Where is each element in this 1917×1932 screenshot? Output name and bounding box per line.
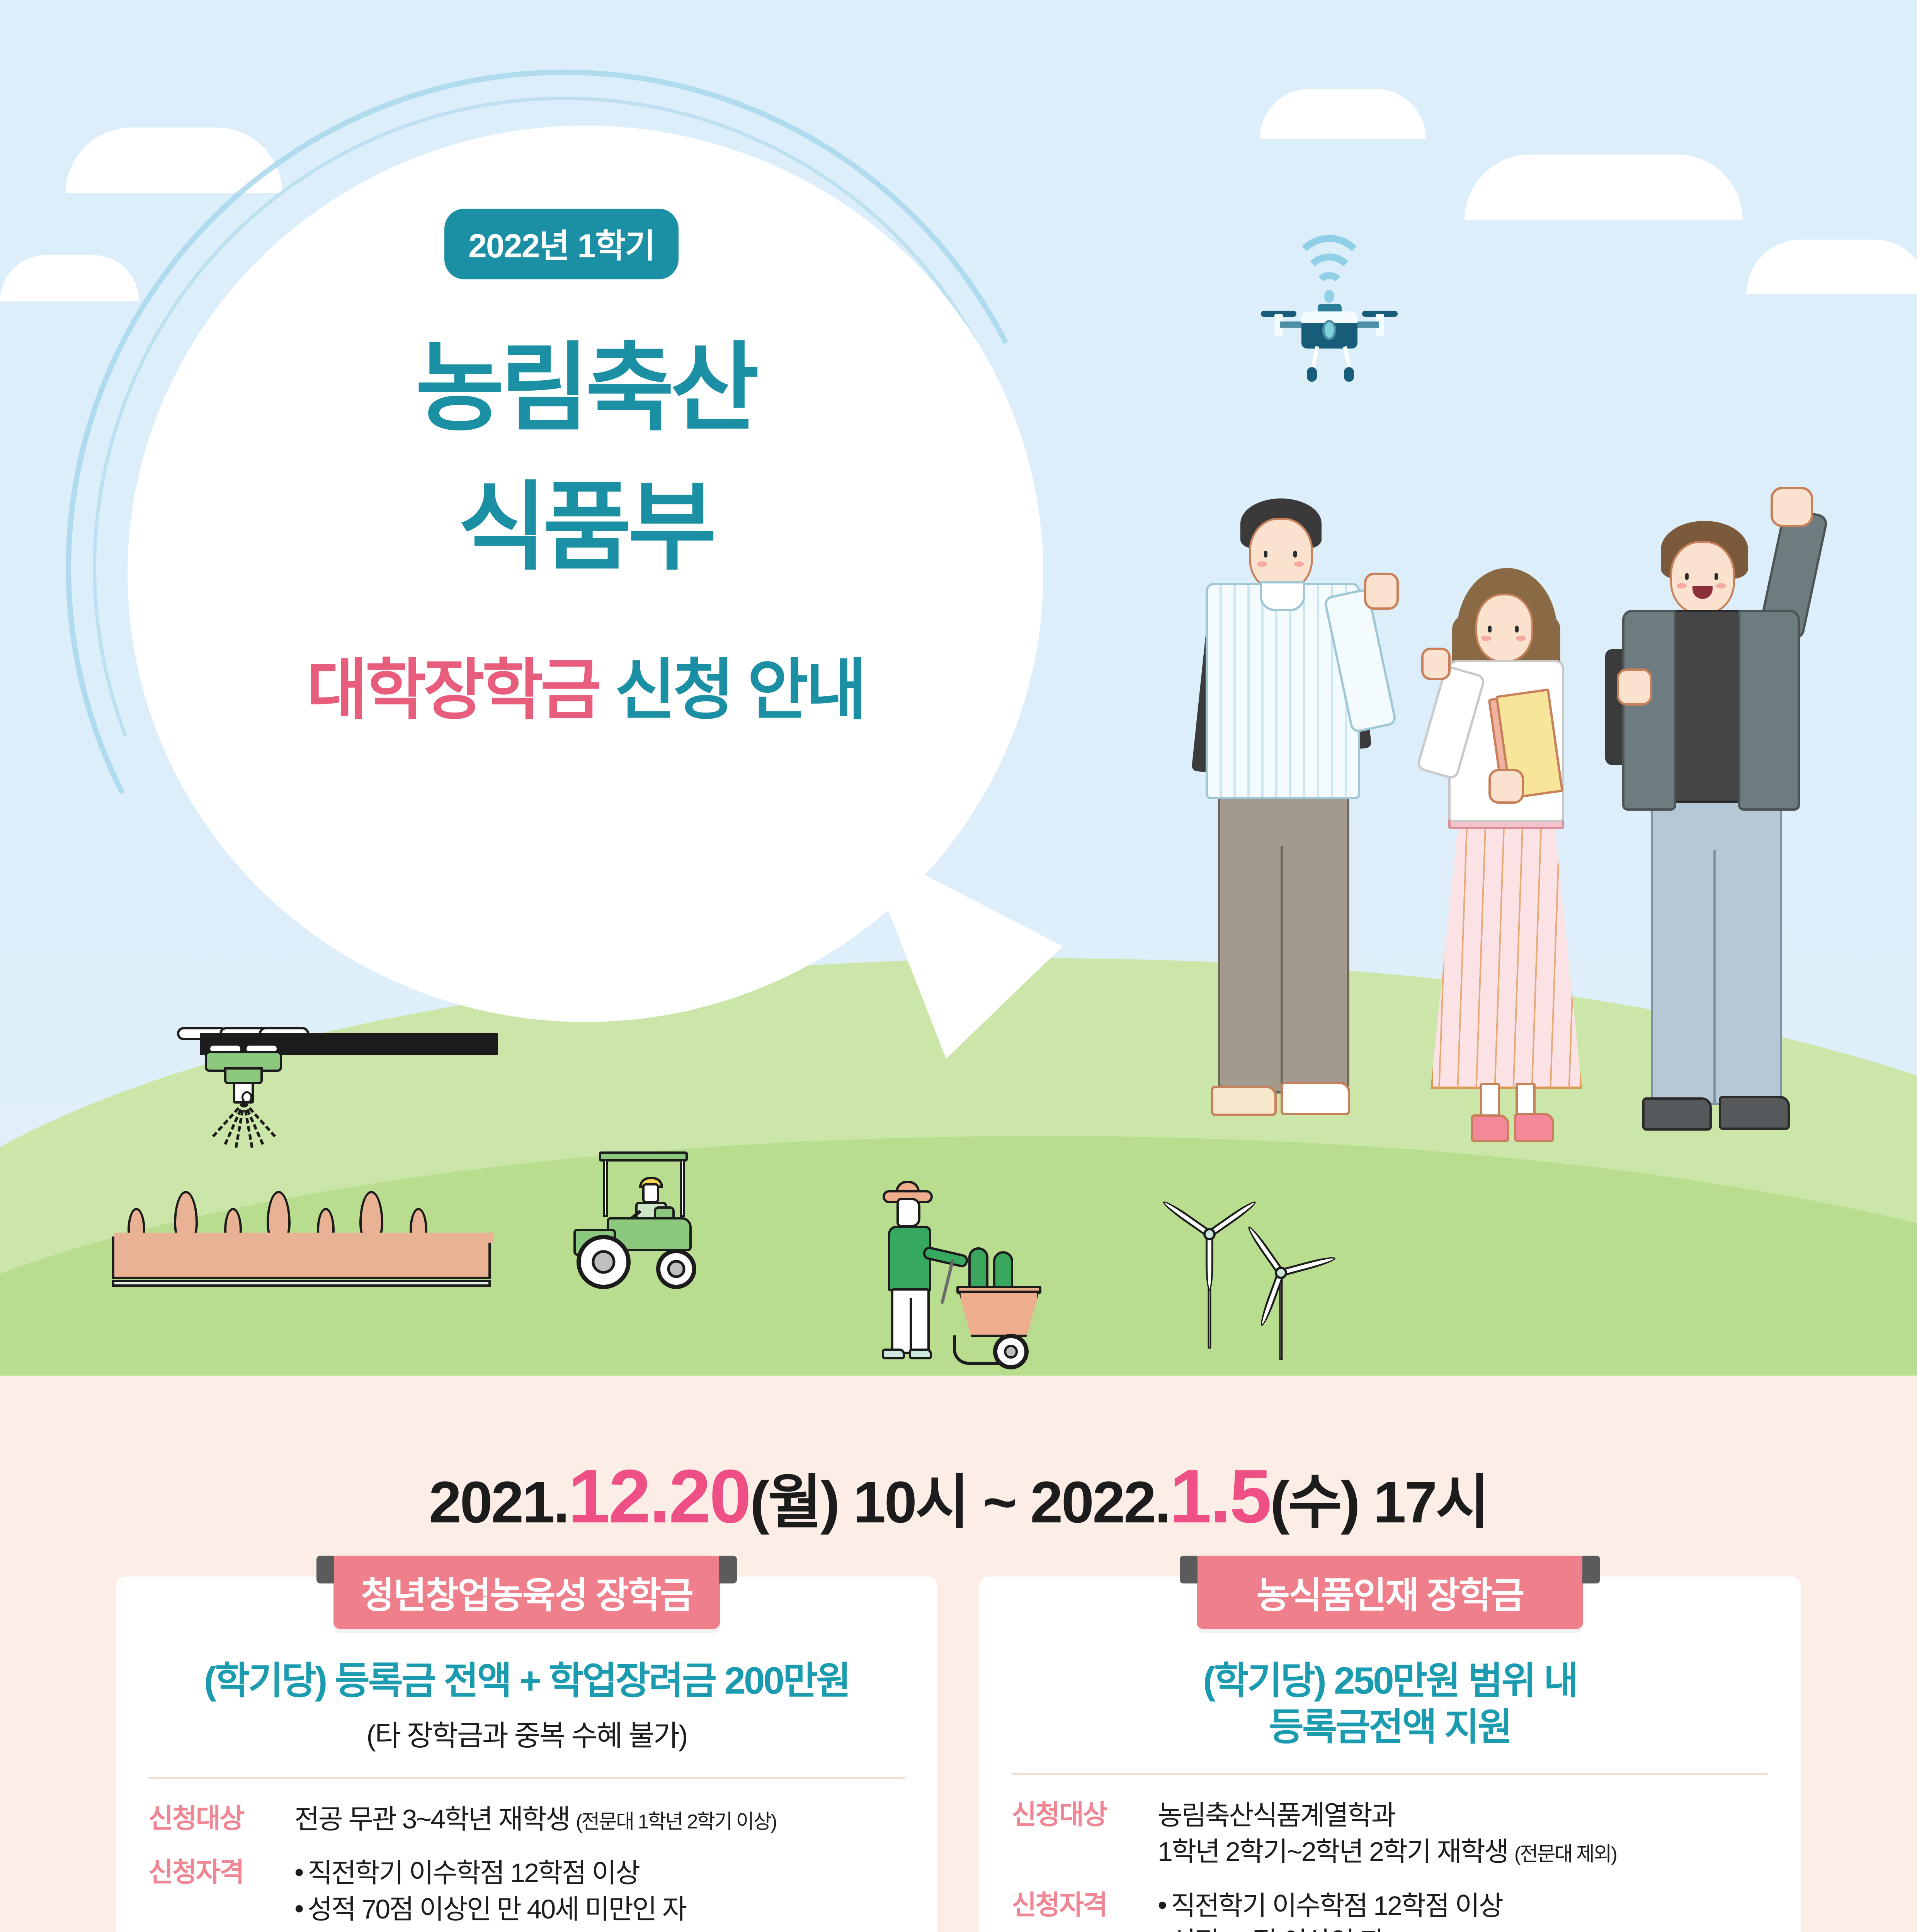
detail-key: 신청자격: [148, 1855, 276, 1890]
period-end-year: 2022.: [1030, 1469, 1169, 1535]
tractor-wheel-icon: [656, 1249, 696, 1289]
students-illustration: [1167, 475, 1832, 1217]
detail-row: 신청대상 농림축산식품계열학과 1학년 2학기~2학년 2학기 재학생 (전문대…: [1012, 1798, 1768, 1870]
page-title-line1: 농림축산: [128, 340, 1043, 437]
info-area: 2021.12.20(월) 10시 ~ 2022.1.5(수) 17시 청년창업…: [0, 1376, 1917, 1932]
application-period: 2021.12.20(월) 10시 ~ 2022.1.5(수) 17시: [0, 1453, 1917, 1540]
shoe-icon: [1642, 1097, 1712, 1131]
scholarship-card-agrifood-talent: 농식품인재 장학금 (학기당) 250만원 범위 내 등록금전액 지원 신청대상…: [979, 1577, 1801, 1932]
propeller-stem-icon: [281, 1033, 498, 1055]
tractor-roof-icon: [599, 1151, 688, 1162]
subtitle-rest: 신청 안내: [599, 653, 864, 727]
cabbage-icon: [968, 1247, 988, 1290]
cloud-icon: [1747, 240, 1917, 294]
hand-icon: [1488, 769, 1524, 804]
farmer-shoe-icon: [882, 1349, 905, 1359]
spray-lines-icon: [185, 1102, 301, 1152]
drone-icon: [1248, 232, 1410, 379]
card-detail-rows: 신청대상 농림축산식품계열학과 1학년 2학기~2학년 2학기 재학생 (전문대…: [1012, 1798, 1768, 1932]
farmer-leg-split-icon: [910, 1298, 912, 1352]
driver-head-icon: [642, 1183, 659, 1203]
cloud-icon: [1260, 89, 1426, 139]
period-start-day: (월) 10시 ~: [750, 1469, 1030, 1535]
detail-value: 농림축산식품계열학과 1학년 2학기~2학년 2학기 재학생 (전문대 제외): [1158, 1798, 1768, 1870]
jacket-icon: [1622, 610, 1676, 811]
card-ribbon-title: 농식품인재 장학금: [1197, 1556, 1583, 1629]
head-icon: [1475, 594, 1533, 662]
drone-leg-icon: [1343, 346, 1352, 371]
period-end-date: 1.5: [1170, 1454, 1270, 1539]
drone-foot-icon: [1307, 367, 1317, 382]
divider: [148, 1777, 905, 1779]
wheat-field-icon: [112, 1198, 491, 1287]
tractor-wheel-icon: [577, 1235, 631, 1289]
detail-key: 신청자격: [1012, 1888, 1139, 1923]
detail-bullet-list: 직전학기 이수학점 12학점 이상 성적 80점 이상인 자: [1158, 1888, 1768, 1932]
period-start-date: 12.20: [568, 1454, 750, 1539]
card-amount-note: (타 장학금과 중복 수혜 불가): [148, 1713, 905, 1754]
detail-key: 신청대상: [148, 1801, 276, 1836]
student-male-striped-shirt: [1182, 498, 1422, 1186]
tractor-post-icon: [603, 1159, 608, 1217]
fist-icon: [1364, 573, 1399, 610]
detail-value-main: 전공 무관 3~4학년 재학생: [294, 1804, 576, 1834]
wheelbarrow-pan-icon: [958, 1291, 1039, 1337]
wheelbarrow-wheel-icon: [993, 1334, 1029, 1369]
wind-turbine-icon: [1240, 1225, 1322, 1356]
scholarship-card-youth-startup: 청년창업농육성 장학금 (학기당) 등록금 전액 + 학업장려금 200만원 (…: [116, 1577, 937, 1932]
page-subtitle: 대학장학금 신청 안내: [128, 657, 1043, 723]
student-female-with-books: [1407, 568, 1623, 1194]
head-icon: [1670, 541, 1735, 614]
soil-base-icon: [112, 1280, 491, 1287]
shoe-icon: [1719, 1096, 1790, 1130]
student-male-jacket-cheering: [1596, 487, 1835, 1190]
cloud-icon: [1465, 155, 1743, 220]
drone-foot-icon: [1344, 367, 1354, 382]
detail-bullet-list: 직전학기 이수학점 12학점 이상 성적 70점 이상인 만 40세 미만인 자: [294, 1855, 905, 1928]
detail-row: 신청자격 직전학기 이수학점 12학점 이상 성적 80점 이상인 자: [1012, 1888, 1768, 1932]
list-item: 직전학기 이수학점 12학점 이상: [1158, 1888, 1768, 1924]
detail-value: 전공 무관 3~4학년 재학생 (전문대 1학년 2학기 이상): [294, 1801, 905, 1838]
detail-row: 신청대상 전공 무관 3~4학년 재학생 (전문대 1학년 2학기 이상): [148, 1801, 905, 1838]
drone-camera-icon: [1322, 320, 1336, 340]
card-amount: (학기당) 250만원 범위 내 등록금전액 지원: [1012, 1658, 1768, 1750]
spray-drone-icon: [162, 1005, 325, 1144]
card-detail-rows: 신청대상 전공 무관 3~4학년 재학생 (전문대 1학년 2학기 이상) 신청…: [148, 1801, 905, 1932]
farmer-torso-icon: [888, 1226, 931, 1291]
jeans-icon: [1651, 788, 1782, 1105]
list-item: 직전학기 이수학점 12학점 이상: [294, 1855, 905, 1891]
card-amount: (학기당) 등록금 전액 + 학업장려금 200만원: [148, 1658, 905, 1704]
hero-illustration-area: 2022년 1학기 농림축산 식품부 대학장학금 신청 안내: [0, 0, 1917, 1376]
list-item: 성적 70점 이상인 만 40세 미만인 자: [294, 1891, 905, 1928]
shoe-icon: [1211, 1086, 1277, 1116]
shoe-icon: [1514, 1113, 1554, 1142]
shoe-icon: [1471, 1114, 1509, 1142]
page-title-line2: 식품부: [128, 479, 1043, 576]
spray-nozzle-icon: [233, 1082, 254, 1104]
soil-icon: [112, 1236, 491, 1279]
period-end-day: (수) 17시: [1270, 1469, 1488, 1535]
farmer-icon: [877, 1182, 1070, 1368]
head-icon: [1249, 518, 1313, 591]
poster-root: 2022년 1학기 농림축산 식품부 대학장학금 신청 안내: [0, 0, 1917, 1932]
detail-value: 직전학기 이수학점 12학점 이상 성적 70점 이상인 만 40세 미만인 자: [294, 1855, 905, 1928]
list-item: 성적 80점 이상인 자: [1158, 1924, 1768, 1932]
raised-fist-icon: [1771, 487, 1813, 527]
detail-row: 신청자격 직전학기 이수학점 12학점 이상 성적 70점 이상인 만 40세 …: [148, 1855, 905, 1928]
card-ribbon-title: 청년창업농육성 장학금: [333, 1556, 720, 1629]
detail-value-small: (전문대 1학년 2학기 이상): [576, 1811, 776, 1833]
pants-icon: [1218, 784, 1349, 1094]
detail-value-small: (전문대 제외): [1514, 1843, 1616, 1866]
tractor-post-icon: [680, 1159, 685, 1217]
shoe-icon: [1281, 1082, 1350, 1115]
detail-key: 신청대상: [1012, 1798, 1139, 1832]
divider: [1012, 1773, 1768, 1775]
farmer-head-icon: [896, 1198, 920, 1227]
tractor-icon: [553, 1151, 715, 1294]
wheelbarrow-handle-icon: [941, 1259, 955, 1304]
farmer-shoe-icon: [909, 1349, 932, 1359]
detail-value-main: 농림축산식품계열학과 1학년 2학기~2학년 2학기 재학생: [1158, 1800, 1514, 1867]
semester-badge: 2022년 1학기: [444, 209, 679, 279]
period-start-year: 2021.: [429, 1469, 568, 1535]
subtitle-highlight: 대학장학금: [307, 653, 599, 727]
hand-icon: [1617, 668, 1652, 706]
wifi-dot-icon: [1324, 290, 1334, 303]
scholarship-cards: 청년창업농육성 장학금 (학기당) 등록금 전액 + 학업장려금 200만원 (…: [116, 1577, 1801, 1932]
jacket-icon: [1738, 610, 1800, 811]
detail-value: 직전학기 이수학점 12학점 이상 성적 80점 이상인 자: [1158, 1888, 1768, 1932]
fist-icon: [1421, 648, 1451, 680]
drone-leg-icon: [1311, 346, 1320, 371]
